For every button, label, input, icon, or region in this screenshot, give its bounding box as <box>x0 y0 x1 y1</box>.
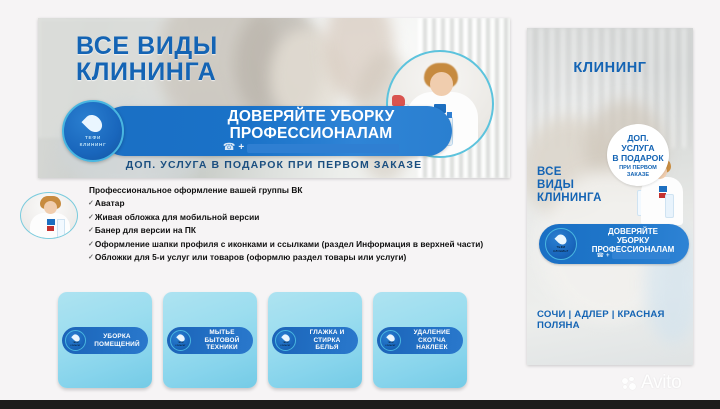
feature-list: Профессиональное оформление вашей группы… <box>88 184 500 265</box>
service-card-pill: ТЕФИ КЛИНИНГ МЫТЬЕ БЫТОВОЙ ТЕХНИКИ <box>167 327 253 354</box>
story-slogan-line2: УБОРКУ <box>583 236 683 245</box>
service-card-label: ГЛАЖКА И СТИРКА БЕЛЬЯ <box>298 327 356 354</box>
story-title: КЛИНИНГ <box>527 60 693 76</box>
feature-list-heading-text: Профессиональное оформление вашей группы… <box>89 184 303 197</box>
story-gift-badge-line2: УСЛУГА <box>621 143 654 153</box>
banner-slogan-pill: ДОВЕРЯЙТЕ УБОРКУ ПРОФЕССИОНАЛАМ ☎ + <box>100 106 452 156</box>
phone-icon: ☎ <box>223 143 235 153</box>
service-card-cleaning[interactable]: ТЕФИ КЛИНИНГ УБОРКА ПОМЕЩЕНИЙ <box>58 292 152 388</box>
feature-list-heading: Профессиональное оформление вашей группы… <box>88 184 500 197</box>
service-card-label-line2: ПОМЕЩЕНИЙ <box>94 341 140 349</box>
story-phone-number-masked <box>612 252 670 259</box>
avatar-tshirt-logo-blue <box>47 219 55 225</box>
service-card-pill: ТЕФИ КЛИНИНГ УДАЛЕНИЕ СКОТЧА НАКЛЕЕК <box>377 327 463 354</box>
story-gift-badge: ДОП. УСЛУГА В ПОДАРОК ПРИ ПЕРВОМ ЗАКАЗЕ <box>607 124 669 186</box>
service-card-label-line3: НАКЛЕЕК <box>414 344 451 352</box>
check-icon: ✓ <box>88 251 94 264</box>
avito-dots-logo <box>622 377 638 390</box>
service-card-label-line2: БЫТОВОЙ <box>205 337 240 345</box>
story-phone-row[interactable]: ☎ + <box>583 251 683 260</box>
banner-tagline: ДОП. УСЛУГА В ПОДАРОК ПРИ ПЕРВОМ ЗАКАЗЕ <box>38 159 510 171</box>
list-item: ✓ Аватар <box>88 197 500 210</box>
list-item-label: Банер для версии на ПК <box>95 224 196 237</box>
check-icon: ✓ <box>88 238 94 251</box>
banner-slogan-line1: ДОВЕРЯЙТЕ УБОРКУ <box>176 109 446 126</box>
story-phone-plus-sign: + <box>606 253 610 259</box>
card-brand-logo-badge: ТЕФИ КЛИНИНГ <box>65 330 86 351</box>
card-logo-line2: КЛИНИНГ <box>280 345 290 348</box>
profile-avatar-photo <box>20 192 78 239</box>
list-item: ✓ Обложки для 5-и услуг или товаров (офо… <box>88 251 500 264</box>
spray-nozzle-icon <box>392 95 405 106</box>
avatar-tshirt-logo-red <box>47 226 54 231</box>
story-gift-badge-line1: ДОП. <box>627 133 648 143</box>
service-card-label-line1: ГЛАЖКА И <box>310 329 345 337</box>
service-cards-row: ТЕФИ КЛИНИНГ УБОРКА ПОМЕЩЕНИЙ ТЕФИ КЛИНИ… <box>58 292 467 388</box>
card-brand-logo-badge: ТЕФИ КЛИНИНГ <box>170 330 191 351</box>
service-card-label-line2: СКОТЧА <box>414 337 451 345</box>
avito-watermark: Avito <box>622 372 681 394</box>
card-logo-line2: КЛИНИНГ <box>70 345 80 348</box>
service-card-label: МЫТЬЕ БЫТОВОЙ ТЕХНИКИ <box>193 327 251 354</box>
banner-slogan-line2: ПРОФЕССИОНАЛАМ <box>176 126 446 143</box>
list-item: ✓ Банер для версии на ПК <box>88 224 500 237</box>
story-gift-badge-line3: В ПОДАРОК <box>612 153 663 163</box>
avito-wordmark: Avito <box>641 372 681 394</box>
avatar-bottle-right <box>57 219 65 239</box>
story-brand-logo-badge: ТЕФИ КЛИНИНГ <box>545 228 577 260</box>
service-card-label: УДАЛЕНИЕ СКОТЧА НАКЛЕЕК <box>403 327 461 354</box>
screenshot-canvas: ВСЕ ВИДЫ КЛИНИНГА ДОВЕРЯЙТЕ УБОРКУ ПРОФЕ… <box>0 0 720 409</box>
story-gift-badge-line4: ПРИ ПЕРВОМ <box>619 165 657 172</box>
service-card-label-line3: ТЕХНИКИ <box>205 344 240 352</box>
banner-slogan: ДОВЕРЯЙТЕ УБОРКУ ПРОФЕССИОНАЛАМ <box>176 109 446 142</box>
banner-phone-row[interactable]: ☎ + <box>176 142 446 154</box>
phone-number-masked <box>247 144 399 153</box>
service-card-ironing-laundry[interactable]: ТЕФИ КЛИНИНГ ГЛАЖКА И СТИРКА БЕЛЬЯ <box>268 292 362 388</box>
check-icon: ✓ <box>88 211 94 224</box>
brand-logo-badge: ТЕФИ КЛИНИНГ <box>62 100 124 162</box>
service-card-label-line1: УДАЛЕНИЕ <box>414 329 451 337</box>
card-logo-line2: КЛИНИНГ <box>175 345 185 348</box>
service-card-label-line3: БЕЛЬЯ <box>310 344 345 352</box>
list-item-label: Обложки для 5-и услуг или товаров (оформ… <box>95 251 406 264</box>
story-cities: СОЧИ | АДЛЕР | КРАСНАЯ ПОЛЯНА <box>537 309 693 331</box>
mobile-story-cover[interactable]: КЛИНИНГ ВСЕ ВИДЫ КЛИНИНГА ДОП. УСЛУГА В … <box>527 28 693 365</box>
story-tshirt-logo-blue <box>659 186 667 192</box>
service-card-label-line1: МЫТЬЕ <box>205 329 240 337</box>
list-item-label: Живая обложка для мобильной версии <box>95 211 259 224</box>
service-card-tape-sticker-removal[interactable]: ТЕФИ КЛИНИНГ УДАЛЕНИЕ СКОТЧА НАКЛЕЕК <box>373 292 467 388</box>
list-item-label: Аватар <box>95 197 125 210</box>
banner-headline: ВСЕ ВИДЫ КЛИНИНГА <box>76 34 218 85</box>
list-item: ✓ Оформление шапки профиля с иконками и … <box>88 238 500 251</box>
list-item: ✓ Живая обложка для мобильной версии <box>88 211 500 224</box>
story-brand-logo-line2: КЛИНИНГ <box>553 250 568 254</box>
card-brand-logo-badge: ТЕФИ КЛИНИНГ <box>275 330 296 351</box>
check-icon: ✓ <box>88 197 94 210</box>
card-logo-line2: КЛИНИНГ <box>385 345 395 348</box>
story-subtitle-line2: ВИДЫ <box>537 179 602 192</box>
phone-plus-sign: + <box>238 143 244 153</box>
vk-cover-banner[interactable]: ВСЕ ВИДЫ КЛИНИНГА ДОВЕРЯЙТЕ УБОРКУ ПРОФЕ… <box>38 18 510 178</box>
story-subtitle: ВСЕ ВИДЫ КЛИНИНГА <box>537 166 602 205</box>
bottom-letterbox-bar <box>0 400 720 409</box>
list-item-label: Оформление шапки профиля с иконками и сс… <box>95 238 483 251</box>
banner-headline-line1: ВСЕ ВИДЫ <box>76 34 218 60</box>
story-gift-badge-line5: ЗАКАЗЕ <box>627 172 649 179</box>
check-icon: ✓ <box>88 224 94 237</box>
story-bottle-right <box>665 194 674 218</box>
avatar-face <box>44 201 57 214</box>
service-card-label-line2: СТИРКА <box>310 337 345 345</box>
service-card-appliance-washing[interactable]: ТЕФИ КЛИНИНГ МЫТЬЕ БЫТОВОЙ ТЕХНИКИ <box>163 292 257 388</box>
story-subtitle-line1: ВСЕ <box>537 166 602 179</box>
story-slogan-line1: ДОВЕРЯЙТЕ <box>583 227 683 236</box>
story-subtitle-line3: КЛИНИНГА <box>537 192 602 205</box>
banner-headline-line2: КЛИНИНГА <box>76 60 218 86</box>
service-card-pill: ТЕФИ КЛИНИНГ ГЛАЖКА И СТИРКА БЕЛЬЯ <box>272 327 358 354</box>
card-brand-logo-badge: ТЕФИ КЛИНИНГ <box>380 330 401 351</box>
brand-logo-line2: КЛИНИНГ <box>80 142 107 149</box>
service-card-label: УБОРКА ПОМЕЩЕНИЙ <box>88 327 146 354</box>
water-drop-icon <box>81 111 105 135</box>
story-slogan-pill: ТЕФИ КЛИНИНГ ДОВЕРЯЙТЕ УБОРКУ ПРОФЕССИОН… <box>539 224 689 264</box>
service-card-pill: ТЕФИ КЛИНИНГ УБОРКА ПОМЕЩЕНИЙ <box>62 327 148 354</box>
phone-icon: ☎ <box>597 253 604 259</box>
brand-logo-line1: ТЕФИ <box>85 135 101 142</box>
lady-face <box>430 72 453 96</box>
service-card-label-line1: УБОРКА <box>94 333 140 341</box>
